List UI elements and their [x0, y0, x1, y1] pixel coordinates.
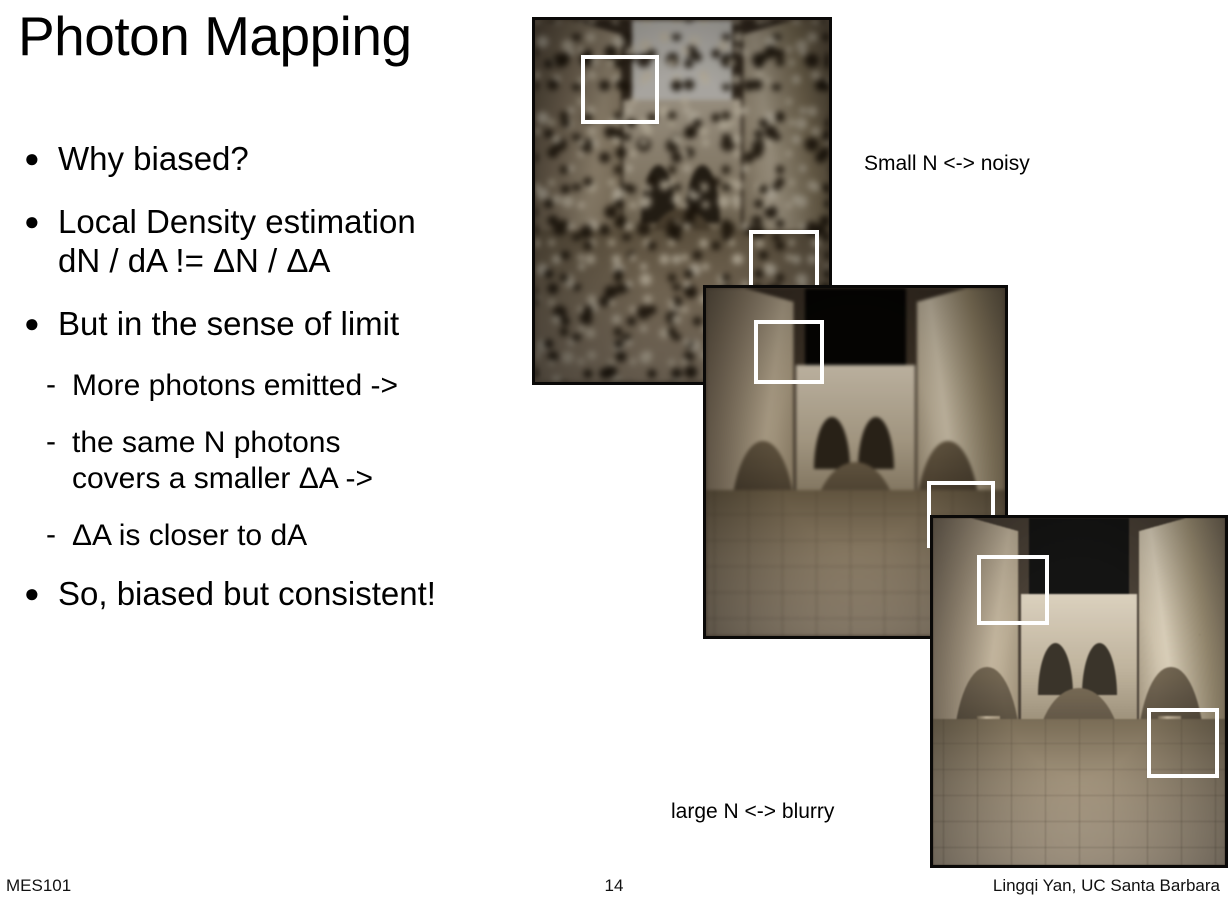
bullet-text: Why biased? — [58, 140, 564, 179]
caption-large-n: large N <-> blurry — [671, 800, 834, 824]
bullet-marker: ● — [24, 305, 58, 343]
list-item: ● Local Density estimation dN / dA != ΔN… — [24, 203, 564, 281]
page-title: Photon Mapping — [18, 4, 412, 68]
bullet-text: the same N photons covers a smaller ΔA -… — [72, 425, 564, 496]
highlight-box — [1147, 708, 1219, 778]
footer-author: Lingqi Yan, UC Santa Barbara — [993, 876, 1220, 896]
list-item: ● Why biased? — [24, 140, 564, 179]
bullet-text: So, biased but consistent! — [58, 575, 564, 614]
bullet-marker: ● — [24, 575, 58, 613]
highlight-box — [977, 555, 1049, 625]
bullet-text: Local Density estimation dN / dA != ΔN /… — [58, 203, 564, 281]
list-item: ● But in the sense of limit — [24, 305, 564, 344]
highlight-box — [754, 320, 824, 384]
slide: Photon Mapping ● Why biased? ● Local Den… — [0, 0, 1228, 910]
bullet-text: ΔA is closer to dA — [72, 518, 564, 553]
list-item: - More photons emitted -> — [24, 368, 564, 403]
bullet-marker: - — [46, 518, 72, 551]
list-item: - ΔA is closer to dA — [24, 518, 564, 553]
bullet-text: But in the sense of limit — [58, 305, 564, 344]
bullet-marker: - — [46, 425, 72, 458]
bullet-marker: ● — [24, 140, 58, 178]
bullet-text: More photons emitted -> — [72, 368, 564, 403]
list-item: ● So, biased but consistent! — [24, 575, 564, 614]
bullet-list: ● Why biased? ● Local Density estimation… — [24, 140, 564, 638]
slide-footer: MES101 14 Lingqi Yan, UC Santa Barbara — [0, 876, 1228, 902]
bullet-marker: ● — [24, 203, 58, 241]
bullet-marker: - — [46, 368, 72, 401]
highlight-box — [581, 55, 659, 124]
blurry-render — [930, 515, 1228, 868]
list-item: - the same N photons covers a smaller ΔA… — [24, 425, 564, 496]
caption-small-n: Small N <-> noisy — [864, 152, 1030, 176]
